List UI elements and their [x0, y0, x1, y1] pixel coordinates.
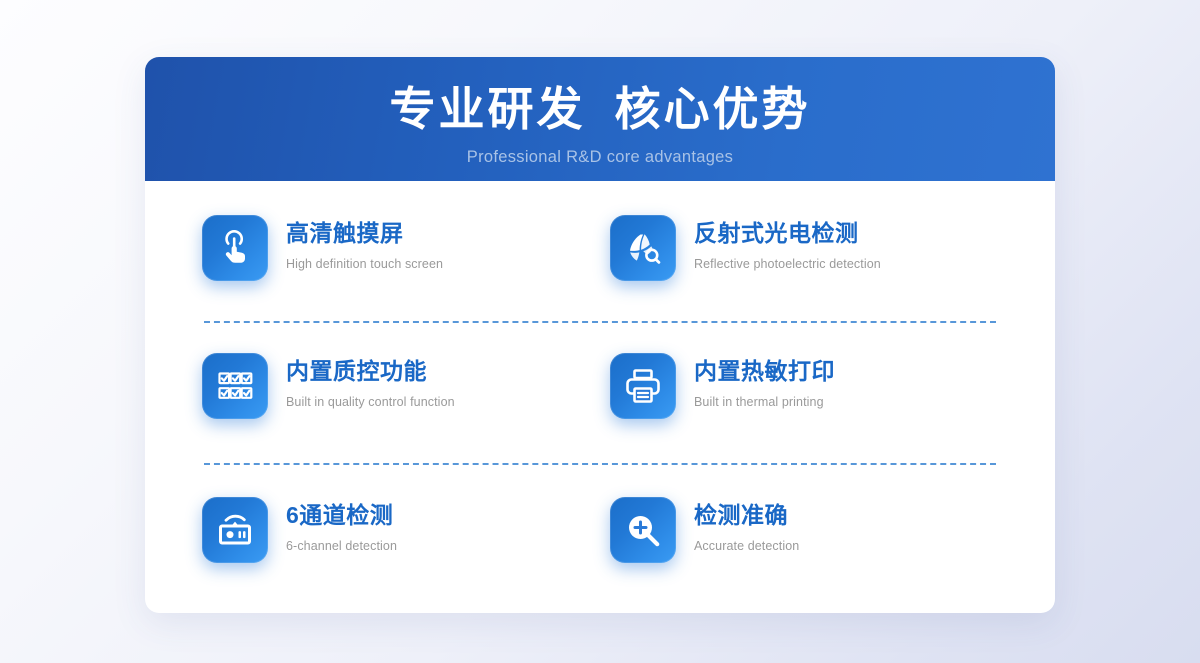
feature-subtitle: High definition touch screen: [286, 257, 443, 271]
magnifier-plus-icon: [610, 497, 676, 563]
features-container: 高清触摸屏 High definition touch screen: [145, 181, 1055, 595]
quality-control-grid-icon: [202, 353, 268, 419]
six-channel-device-icon: [202, 497, 268, 563]
feature-text: 内置热敏打印 Built in thermal printing: [676, 353, 835, 409]
feature-subtitle: Accurate detection: [694, 539, 799, 553]
feature-row: 内置质控功能 Built in quality control function…: [202, 323, 998, 463]
feature-text: 6通道检测 6-channel detection: [268, 497, 397, 553]
touch-screen-icon: [202, 215, 268, 281]
feature-item-thermal-printer[interactable]: 内置热敏打印 Built in thermal printing: [600, 353, 998, 419]
feature-title: 高清触摸屏: [286, 219, 443, 248]
feature-item-accurate-detection[interactable]: 检测准确 Accurate detection: [600, 497, 998, 563]
feature-row: 高清触摸屏 High definition touch screen: [202, 181, 998, 321]
feature-text: 反射式光电检测 Reflective photoelectric detecti…: [676, 215, 881, 271]
divider-row-2: [204, 463, 996, 465]
feature-item-six-channel[interactable]: 6通道检测 6-channel detection: [202, 497, 600, 563]
thermal-printer-icon: [610, 353, 676, 419]
feature-item-touch-screen[interactable]: 高清触摸屏 High definition touch screen: [202, 215, 600, 281]
feature-title: 反射式光电检测: [694, 219, 881, 248]
page-subtitle: Professional R&D core advantages: [145, 148, 1055, 167]
advantages-card: 专业研发 核心优势 Professional R&D core advantag…: [145, 57, 1055, 613]
reflective-photoelectric-icon: [610, 215, 676, 281]
feature-title: 6通道检测: [286, 501, 397, 530]
feature-title: 内置热敏打印: [694, 357, 835, 386]
feature-item-reflective-photoelectric[interactable]: 反射式光电检测 Reflective photoelectric detecti…: [600, 215, 998, 281]
feature-title: 检测准确: [694, 501, 799, 530]
feature-text: 高清触摸屏 High definition touch screen: [268, 215, 443, 271]
page-title: 专业研发 核心优势: [145, 57, 1055, 133]
feature-row: 6通道检测 6-channel detection 检测准确 Accurate …: [202, 465, 998, 595]
feature-text: 检测准确 Accurate detection: [676, 497, 799, 553]
feature-subtitle: Built in quality control function: [286, 395, 455, 409]
divider-row-1: [204, 321, 996, 323]
feature-title: 内置质控功能: [286, 357, 455, 386]
feature-subtitle: Reflective photoelectric detection: [694, 257, 881, 271]
feature-subtitle: 6-channel detection: [286, 539, 397, 553]
feature-text: 内置质控功能 Built in quality control function: [268, 353, 455, 409]
feature-item-quality-control[interactable]: 内置质控功能 Built in quality control function: [202, 353, 600, 419]
card-header: 专业研发 核心优势 Professional R&D core advantag…: [145, 57, 1055, 181]
feature-subtitle: Built in thermal printing: [694, 395, 835, 409]
